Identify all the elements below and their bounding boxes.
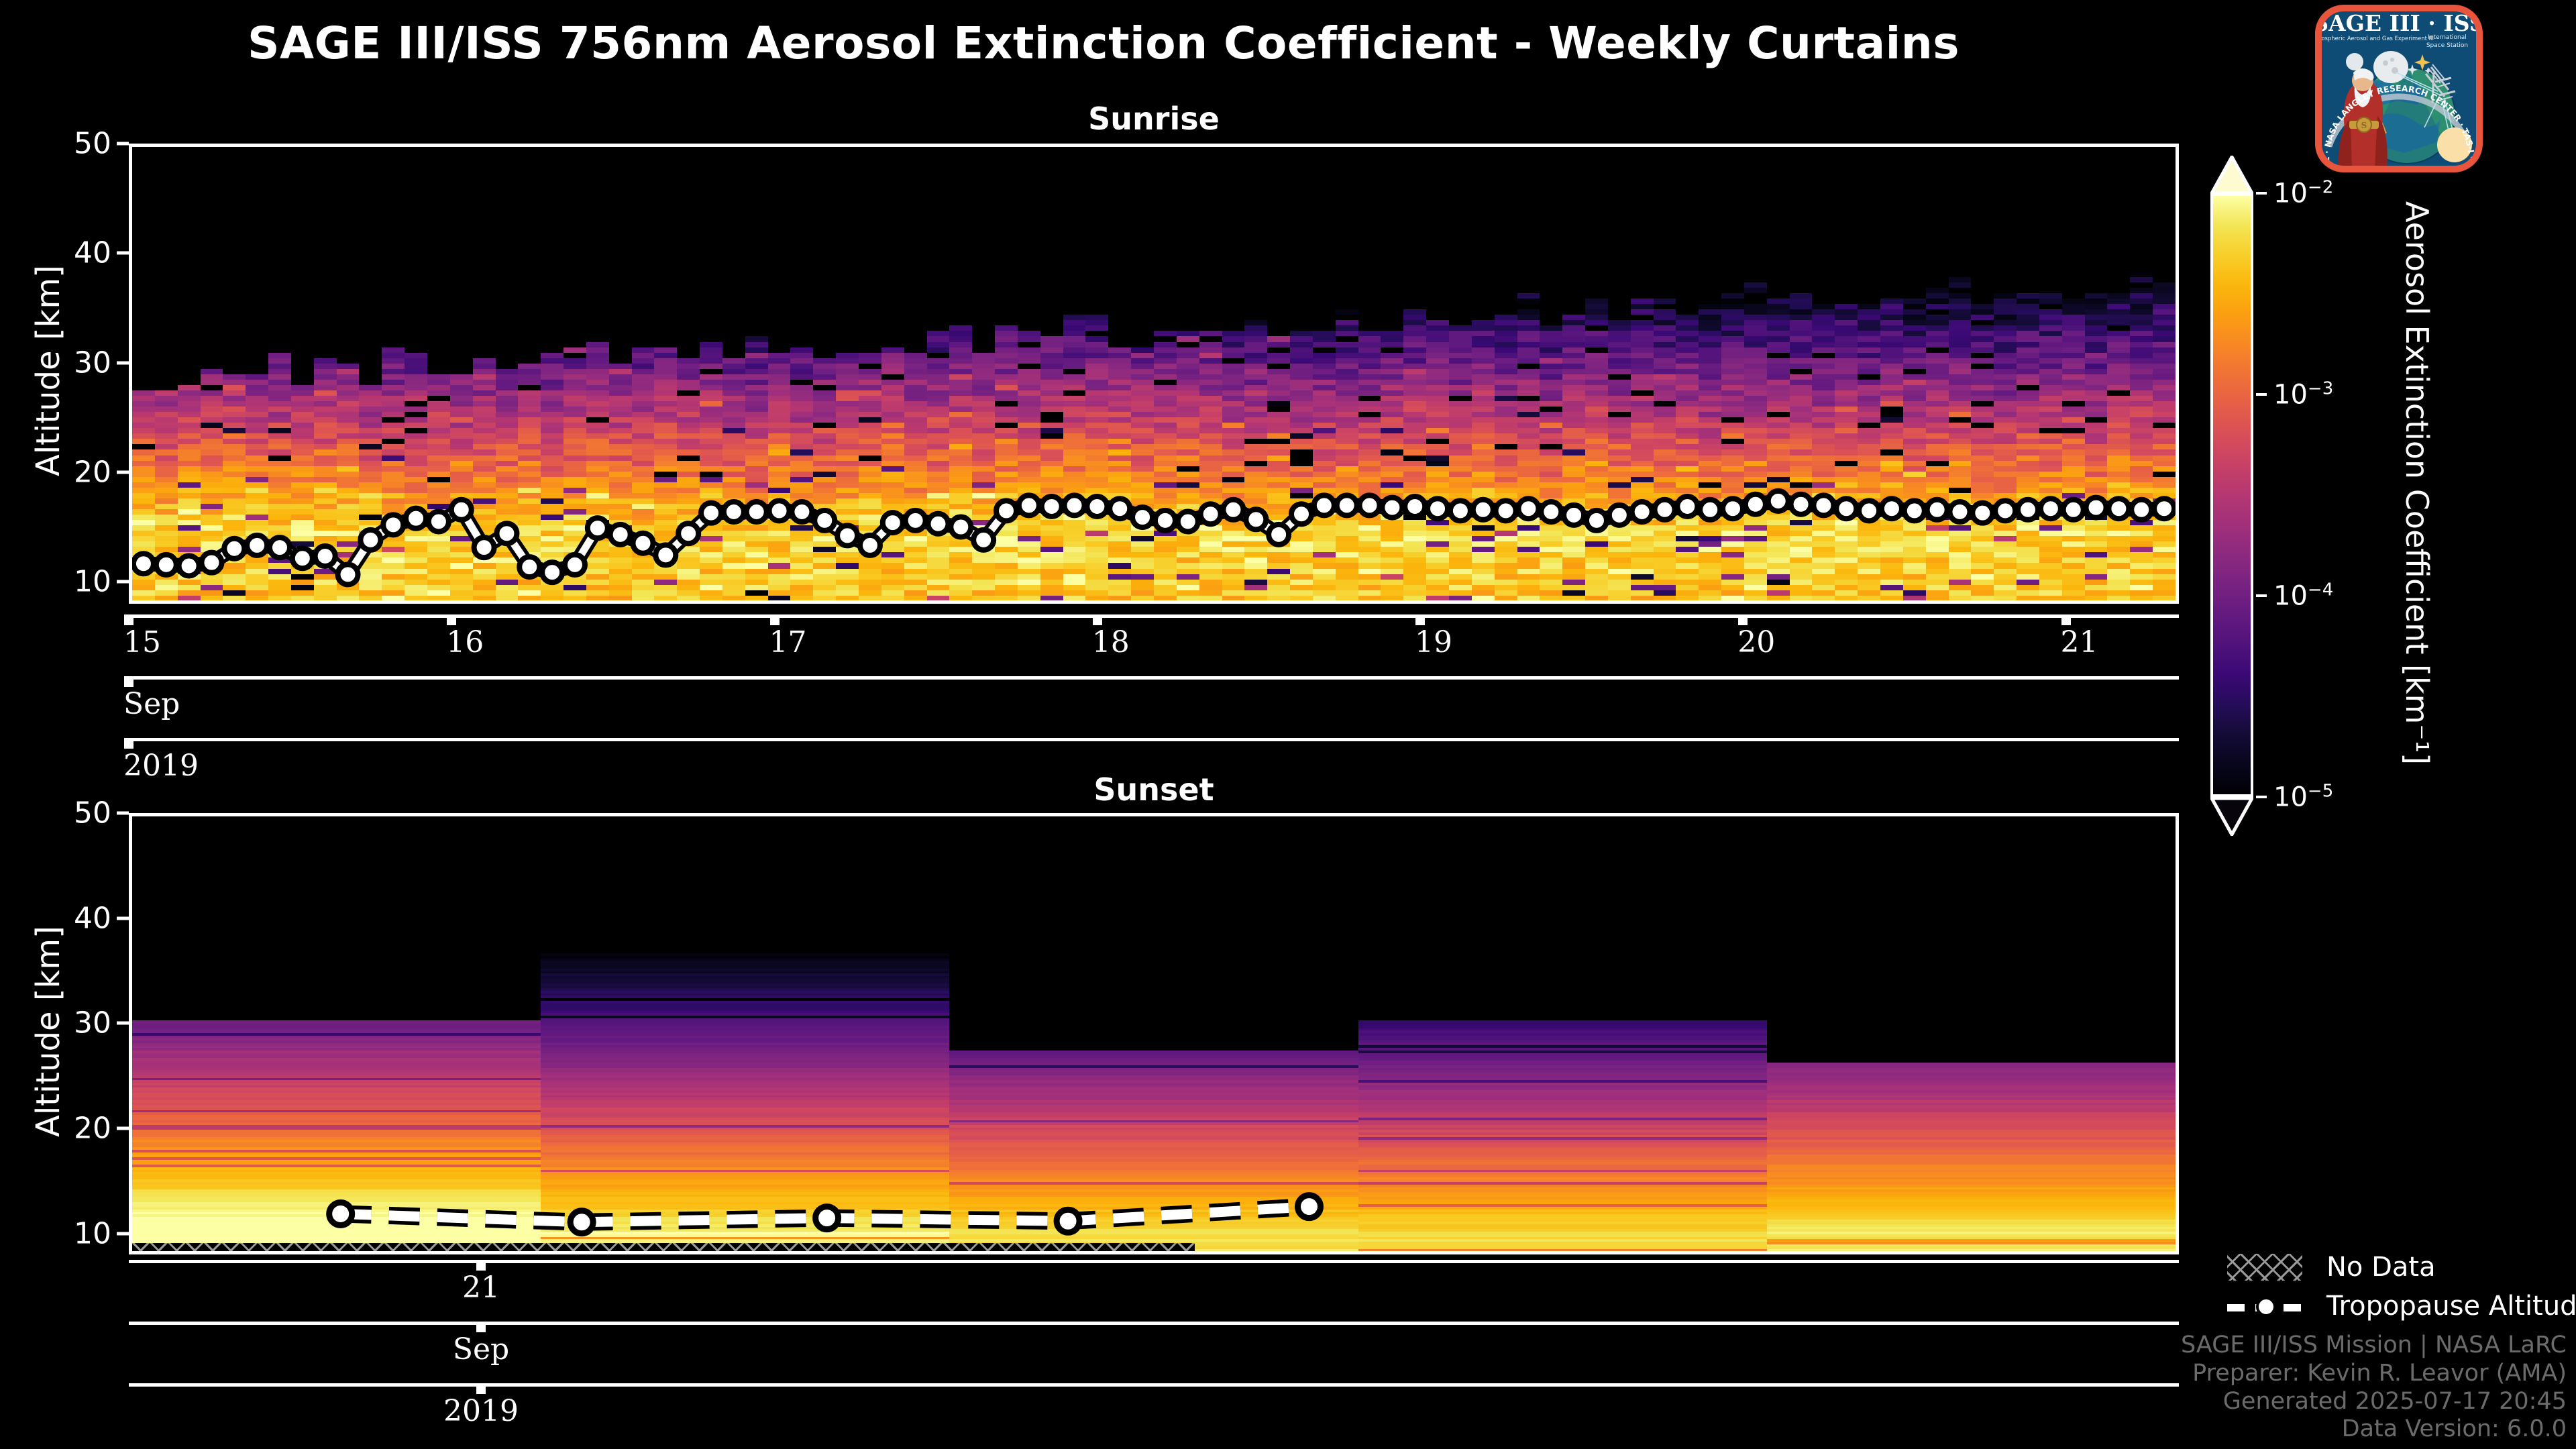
sunrise-panel-title: Sunrise [129, 101, 2179, 137]
sunrise-panel: Sunrise Altitude [km] 1020304050 1516171… [129, 101, 2179, 604]
page-title: SAGE III/ISS 756nm Aerosol Extinction Co… [0, 17, 2207, 69]
sunrise-plot-area[interactable] [129, 144, 2179, 604]
